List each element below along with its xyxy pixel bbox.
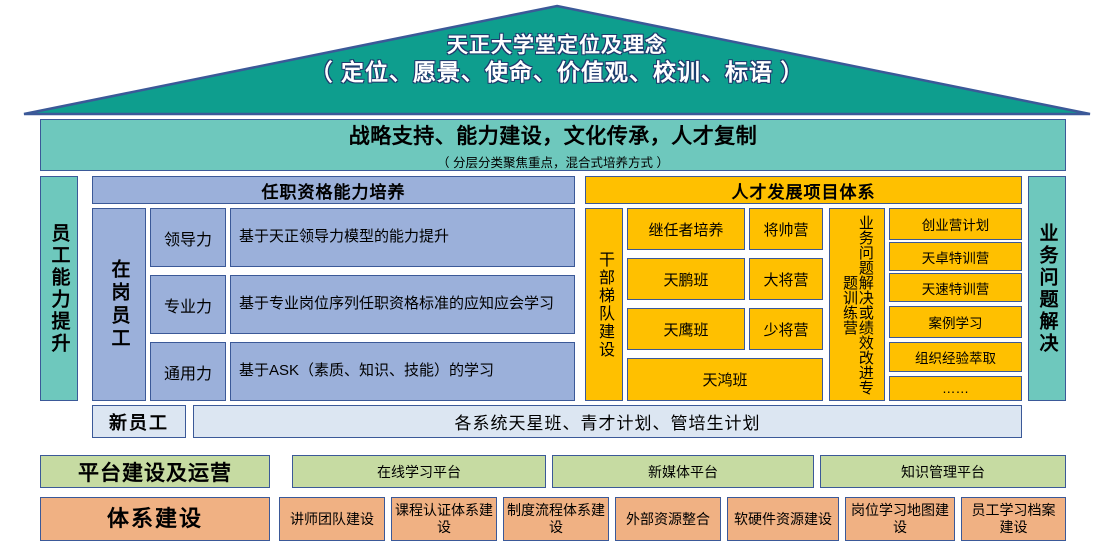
program-case-study[interactable]: 案例学习 — [889, 306, 1022, 338]
new-employee-row: 新员工 各系统天星班、青才计划、管培生计划 — [92, 405, 1022, 438]
capability-desc-professional[interactable]: 基于专业岗位序列任职资格标准的应知应会学习 — [230, 275, 575, 334]
group-qualification-capability: 任职资格能力培养 在岗员工 领导力 专业力 通用力 基于天正领导力模型的能力提升… — [92, 176, 575, 401]
system-job-learning-map[interactable]: 岗位学习地图建设 — [845, 497, 955, 541]
system-course-certification[interactable]: 课程认证体系建设 — [391, 497, 497, 541]
program-more-ellipsis[interactable]: …… — [889, 376, 1022, 401]
capability-desc-general[interactable]: 基于ASK（素质、知识、技能）的学习 — [230, 342, 575, 401]
orange-group-title[interactable]: 人才发展项目体系 — [585, 176, 1022, 204]
capability-desc-leadership[interactable]: 基于天正领导力模型的能力提升 — [230, 208, 575, 267]
business-problem-training-camp[interactable]: 业务问题解决或绩效改进专题训练营 — [829, 208, 885, 401]
program-successor-cultivation[interactable]: 继任者培养 — [627, 208, 745, 250]
blue-subgroup-onjob[interactable]: 在岗员工 — [92, 208, 146, 401]
new-employee-programs[interactable]: 各系统天星班、青才计划、管培生计划 — [193, 405, 1022, 438]
program-org-experience-extraction[interactable]: 组织经验萃取 — [889, 342, 1022, 372]
blue-subgroup-label: 在岗员工 — [110, 259, 129, 351]
cadre-echelon-label: 干部梯队建设 — [596, 251, 612, 359]
platform-online-learning[interactable]: 在线学习平台 — [292, 455, 546, 488]
strategy-band: 战略支持、能力建设，文化传承，人才复制 （ 分层分类聚焦重点，混合式培养方式 ） — [40, 119, 1066, 171]
program-tiansu-special-camp[interactable]: 天速特训营 — [889, 273, 1022, 302]
program-general-marshal-camp[interactable]: 将帅营 — [749, 208, 823, 250]
program-major-general-camp[interactable]: 大将营 — [749, 258, 823, 300]
pillar-left-label: 员工能力提升 — [50, 223, 69, 355]
strategy-band-main-text: 战略支持、能力建设，文化传承，人才复制 — [349, 120, 758, 150]
program-tianhong-class[interactable]: 天鸿班 — [627, 358, 823, 401]
roof-shape: 天正大学堂定位及理念 （ 定位、愿景、使命、价值观、校训、标语 ） — [22, 4, 1092, 116]
system-row-header[interactable]: 体系建设 — [40, 497, 270, 541]
roof-triangle-icon — [22, 4, 1092, 116]
program-tianying-class[interactable]: 天鹰班 — [627, 308, 745, 350]
platform-row: 平台建设及运营 在线学习平台 新媒体平台 知识管理平台 — [40, 455, 1066, 488]
capability-label-column: 领导力 专业力 通用力 — [150, 208, 226, 401]
org-training-framework-diagram: 天正大学堂定位及理念 （ 定位、愿景、使命、价值观、校训、标语 ） 战略支持、能… — [0, 0, 1114, 551]
pillar-right-label: 业务问题解决 — [1038, 223, 1057, 355]
system-employee-learning-archive[interactable]: 员工学习档案建设 — [961, 497, 1066, 541]
cadre-echelon-pillar[interactable]: 干部梯队建设 — [585, 208, 623, 401]
talent-program-grid: 继任者培养 将帅营 天鹏班 大将营 天鹰班 少将营 天鸿班 — [627, 208, 823, 401]
program-tianpeng-class[interactable]: 天鹏班 — [627, 258, 745, 300]
special-program-column: 创业营计划 天卓特训营 天速特训营 案例学习 组织经验萃取 …… — [889, 208, 1022, 401]
main-body: 员工能力提升 任职资格能力培养 在岗员工 领导力 专业力 通用力 基于天正领导力… — [40, 176, 1066, 449]
platform-knowledge-management[interactable]: 知识管理平台 — [820, 455, 1066, 488]
pillar-business-problem-solving[interactable]: 业务问题解决 — [1028, 176, 1066, 401]
system-row: 体系建设 讲师团队建设 课程认证体系建设 制度流程体系建设 外部资源整合 软硬件… — [40, 497, 1066, 541]
platform-row-header[interactable]: 平台建设及运营 — [40, 455, 270, 488]
strategy-band-sub-text: （ 分层分类聚焦重点，混合式培养方式 ） — [437, 152, 669, 171]
business-problem-training-camp-label: 业务问题解决或绩效改进专题训练营 — [841, 211, 873, 399]
new-employee-tag[interactable]: 新员工 — [92, 405, 186, 438]
system-process-institution[interactable]: 制度流程体系建设 — [503, 497, 609, 541]
pillar-employee-capability[interactable]: 员工能力提升 — [40, 176, 78, 401]
program-tianzhuo-special-camp[interactable]: 天卓特训营 — [889, 242, 1022, 271]
system-trainer-team-building[interactable]: 讲师团队建设 — [279, 497, 385, 541]
program-lieutenant-general-camp[interactable]: 少将营 — [749, 308, 823, 350]
blue-group-title[interactable]: 任职资格能力培养 — [92, 176, 575, 204]
system-external-resource-integration[interactable]: 外部资源整合 — [615, 497, 721, 541]
capability-label-leadership[interactable]: 领导力 — [150, 208, 226, 267]
platform-new-media[interactable]: 新媒体平台 — [552, 455, 814, 488]
group-talent-development: 人才发展项目体系 干部梯队建设 继任者培养 将帅营 天鹏班 大将营 天鹰班 少将… — [585, 176, 1022, 401]
program-entrepreneurship-camp-plan[interactable]: 创业营计划 — [889, 208, 1022, 240]
capability-label-general[interactable]: 通用力 — [150, 342, 226, 401]
capability-desc-column: 基于天正领导力模型的能力提升 基于专业岗位序列任职资格标准的应知应会学习 基于A… — [230, 208, 575, 401]
system-hardware-software-resource[interactable]: 软硬件资源建设 — [727, 497, 839, 541]
capability-label-professional[interactable]: 专业力 — [150, 275, 226, 334]
